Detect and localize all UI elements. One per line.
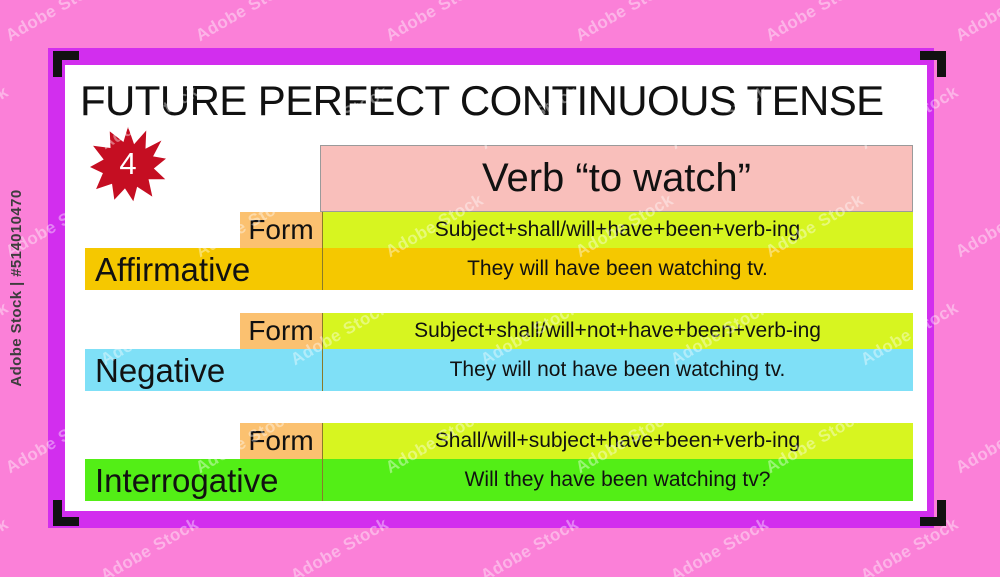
interrogative-formula-bar: Shall/will+subject+have+been+verb-ing xyxy=(322,423,913,459)
interrogative-column-divider xyxy=(322,423,323,501)
negative-form-label: Form xyxy=(240,313,322,349)
negative-formula-text: Subject+shall/will+not+have+been+verb-in… xyxy=(414,319,821,343)
watermark-text: Adobe Stock xyxy=(0,82,12,154)
watermark-text: Adobe Stock xyxy=(0,514,12,577)
lesson-number: 4 xyxy=(90,126,166,202)
lesson-number-starburst: 4 xyxy=(90,126,166,202)
interrogative-formula-text: Shall/will+subject+have+been+verb-ing xyxy=(435,429,800,453)
watermark-text: Adobe Stock xyxy=(2,0,107,46)
watermark-text: Adobe Stock xyxy=(952,190,1000,262)
watermark-text: Adobe Stock xyxy=(952,406,1000,478)
watermark-text: Adobe Stock xyxy=(572,0,677,46)
negative-type-label: Negative xyxy=(85,349,322,391)
negative-column-divider xyxy=(322,313,323,391)
watermark-text: Adobe Stock xyxy=(762,0,867,46)
affirmative-example-text: They will have been watching tv. xyxy=(467,257,768,281)
affirmative-type-label: Affirmative xyxy=(85,248,322,290)
page-title: FUTURE PERFECT CONTINUOUS TENSE xyxy=(80,78,910,124)
affirmative-column-divider xyxy=(322,212,323,290)
watermark-text: Adobe Stock xyxy=(192,0,297,46)
corner-bracket-bottom-right xyxy=(920,500,946,526)
negative-example-text: They will not have been watching tv. xyxy=(450,358,786,382)
negative-formula-bar: Subject+shall/will+not+have+been+verb-in… xyxy=(322,313,913,349)
affirmative-example-bar: They will have been watching tv. xyxy=(322,248,913,290)
poster-canvas: FUTURE PERFECT CONTINUOUS TENSE 4 Verb “… xyxy=(0,0,1000,577)
watermark-text: Adobe Stock xyxy=(952,0,1000,46)
corner-bracket-bottom-left xyxy=(53,500,79,526)
affirmative-form-label: Form xyxy=(240,212,322,248)
negative-example-bar: They will not have been watching tv. xyxy=(322,349,913,391)
affirmative-formula-text: Subject+shall/will+have+been+verb-ing xyxy=(435,218,800,242)
stock-credit-text: Adobe Stock | #514010470 xyxy=(8,189,25,386)
affirmative-formula-bar: Subject+shall/will+have+been+verb-ing xyxy=(322,212,913,248)
corner-bracket-top-right xyxy=(920,51,946,77)
corner-bracket-top-left xyxy=(53,51,79,77)
interrogative-form-label: Form xyxy=(240,423,322,459)
verb-header-box: Verb “to watch” xyxy=(320,145,913,212)
interrogative-type-label: Interrogative xyxy=(85,459,322,501)
verb-header-text: Verb “to watch” xyxy=(482,156,751,201)
watermark-text: Adobe Stock xyxy=(382,0,487,46)
interrogative-example-text: Will they have been watching tv? xyxy=(465,468,771,492)
interrogative-example-bar: Will they have been watching tv? xyxy=(322,459,913,501)
